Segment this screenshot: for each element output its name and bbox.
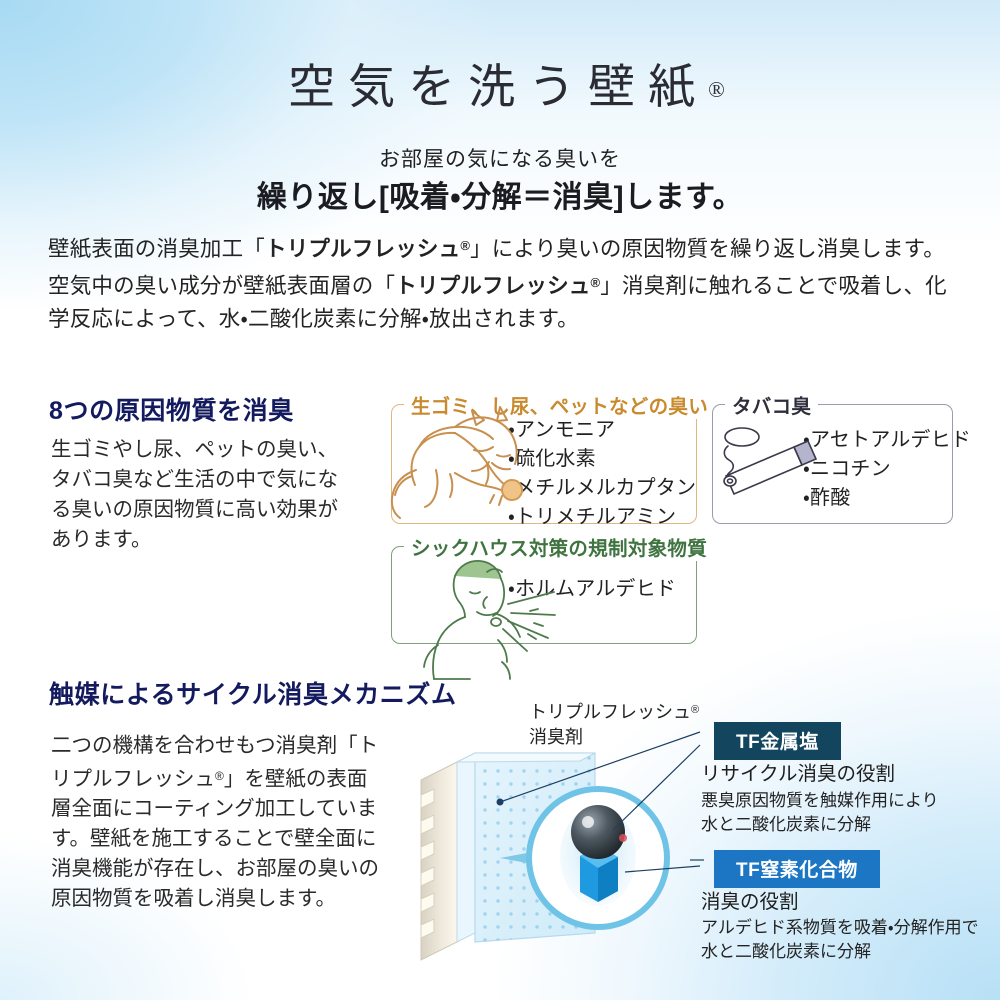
- diagram-caption-line2: 消臭剤: [529, 727, 583, 747]
- desc-line: 水と二酸化炭素に分解: [701, 815, 871, 834]
- registered-mark-icon: ®: [691, 704, 699, 716]
- badge-tf-metal-salt: TF金属塩: [714, 722, 841, 760]
- desc-line: 水と二酸化炭素に分解: [701, 942, 871, 961]
- diagram-caption: トリプルフレッシュ®消臭剤: [529, 698, 699, 750]
- diagram-caption-line1: トリプルフレッシュ: [529, 702, 691, 722]
- desc-line: アルデヒド系物質を吸着・分解作用で: [701, 918, 979, 937]
- tf-metal-salt-role: リサイクル消臭の役割: [701, 762, 895, 786]
- tf-nitrogen-compound-description: アルデヒド系物質を吸着・分解作用で水と二酸化炭素に分解: [701, 916, 979, 964]
- badge-tf-nitrogen-compound: TF窒素化合物: [714, 850, 880, 888]
- tf-metal-salt-description: 悪臭原因物質を触媒作用により水と二酸化炭素に分解: [701, 789, 939, 837]
- desc-line: 悪臭原因物質を触媒作用により: [701, 791, 939, 810]
- tf-nitrogen-compound-role: 消臭の役割: [701, 890, 799, 914]
